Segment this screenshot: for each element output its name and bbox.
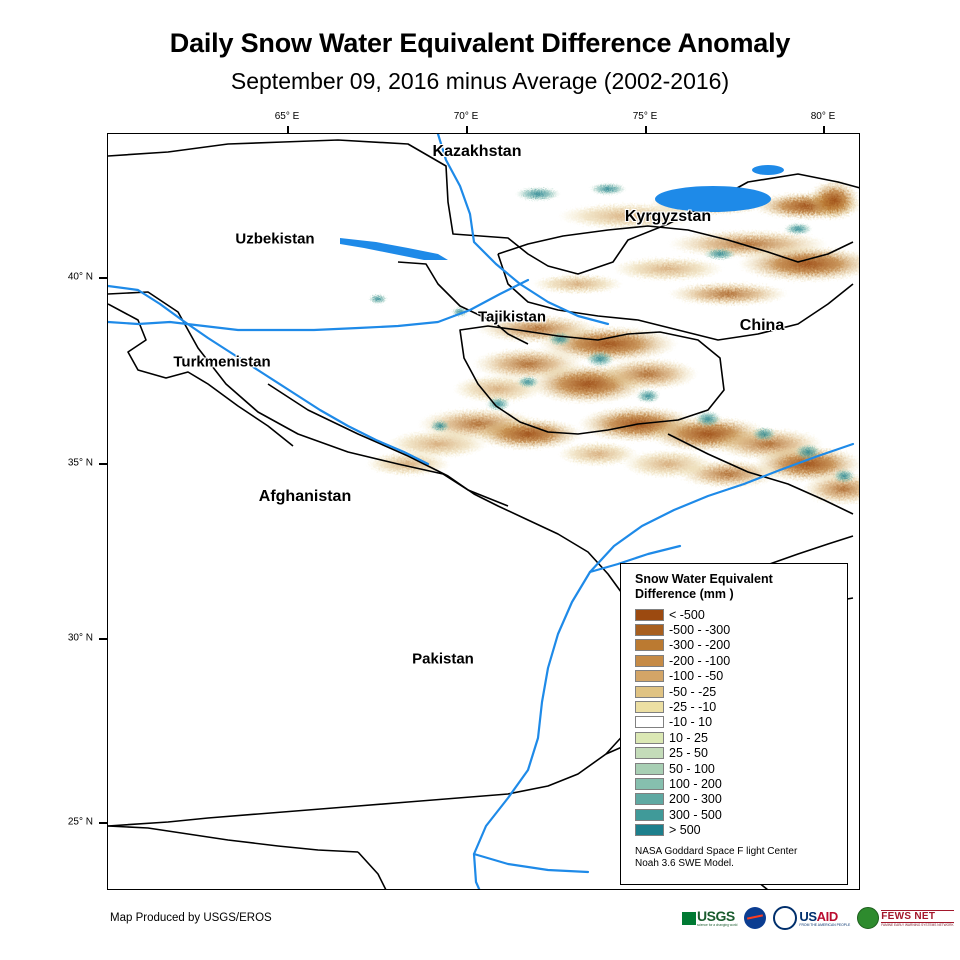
legend-range-label: 100 - 200 (669, 777, 722, 791)
legend-range-label: > 500 (669, 823, 701, 837)
legend-entries: < -500-500 - -300-300 - -200-200 - -100-… (635, 607, 837, 838)
legend-color-swatch (635, 793, 664, 805)
legend-entry: -25 - -10 (635, 699, 837, 714)
usgs-logo-text: USGS (697, 910, 737, 923)
legend-color-swatch (635, 701, 664, 713)
legend-title-line1: Snow Water Equivalent (635, 572, 837, 587)
legend-entry: -50 - -25 (635, 684, 837, 699)
legend-panel: Snow Water Equivalent Difference (mm ) <… (620, 563, 848, 885)
legend-range-label: -200 - -100 (669, 654, 730, 668)
legend-color-swatch (635, 763, 664, 775)
map-page: Daily Snow Water Equivalent Difference A… (0, 0, 960, 960)
usgs-logo[interactable]: USGS science for a changing world (682, 910, 737, 927)
legend-color-swatch (635, 655, 664, 667)
legend-entry: 200 - 300 (635, 792, 837, 807)
legend-range-label: -50 - -25 (669, 685, 716, 699)
legend-title: Snow Water Equivalent Difference (mm ) (635, 572, 837, 602)
legend-entry: -100 - -50 (635, 669, 837, 684)
country-label-uzbekistan: Uzbekistan (235, 231, 314, 248)
legend-color-swatch (635, 639, 664, 651)
legend-entry: 300 - 500 (635, 807, 837, 822)
legend-source: NASA Goddard Space F light Center Noah 3… (635, 846, 837, 871)
legend-range-label: -10 - 10 (669, 715, 712, 729)
fewsnet-globe-icon (857, 907, 879, 929)
legend-entry: -200 - -100 (635, 653, 837, 668)
legend-color-swatch (635, 732, 664, 744)
latitude-tick-mark (99, 822, 107, 824)
latitude-tick-mark (99, 463, 107, 465)
legend-source-line1: NASA Goddard Space F light Center (635, 846, 837, 859)
legend-range-label: 300 - 500 (669, 808, 722, 822)
usaid-seal-icon (773, 906, 797, 930)
usaid-logo-tagline: FROM THE AMERICAN PEOPLE (799, 923, 850, 927)
agency-logos: USGS science for a changing world USAID … (682, 906, 954, 930)
legend-range-label: -500 - -300 (669, 623, 730, 637)
longitude-tick-label: 75° E (633, 111, 658, 122)
legend-color-swatch (635, 686, 664, 698)
legend-entry: 25 - 50 (635, 746, 837, 761)
legend-range-label: -300 - -200 (669, 638, 730, 652)
fewsnet-logo-text: FEWS NET (881, 910, 953, 923)
legend-range-label: 50 - 100 (669, 762, 715, 776)
legend-entry: 10 - 25 (635, 730, 837, 745)
country-label-tajikistan: Tajikistan (478, 309, 546, 326)
legend-color-swatch (635, 609, 664, 621)
legend-color-swatch (635, 670, 664, 682)
legend-color-swatch (635, 747, 664, 759)
usgs-mark-icon (682, 912, 696, 925)
country-label-pakistan: Pakistan (412, 651, 474, 668)
legend-entry: 100 - 200 (635, 776, 837, 791)
map-credit: Map Produced by USGS/EROS (110, 912, 272, 924)
usaid-logo[interactable]: USAID FROM THE AMERICAN PEOPLE (773, 906, 850, 930)
legend-range-label: 25 - 50 (669, 746, 708, 760)
legend-title-line2: Difference (mm ) (635, 587, 837, 602)
usgs-logo-tagline: science for a changing world (697, 923, 737, 927)
longitude-tick-mark (823, 126, 825, 133)
country-label-kazakhstan: Kazakhstan (433, 143, 522, 161)
legend-range-label: 200 - 300 (669, 792, 722, 806)
longitude-tick-label: 80° E (811, 111, 836, 122)
country-label-china: China (740, 317, 784, 335)
legend-color-swatch (635, 824, 664, 836)
longitude-tick-label: 70° E (454, 111, 479, 122)
usaid-text-aid: AID (817, 909, 838, 924)
legend-color-swatch (635, 624, 664, 636)
legend-entry: -10 - 10 (635, 715, 837, 730)
longitude-tick-mark (287, 126, 289, 133)
latitude-tick-label: 35° N (49, 458, 93, 469)
longitude-tick-label: 65° E (275, 111, 300, 122)
legend-color-swatch (635, 778, 664, 790)
legend-range-label: -100 - -50 (669, 669, 723, 683)
latitude-tick-label: 30° N (49, 633, 93, 644)
longitude-tick-mark (466, 126, 468, 133)
nasa-logo[interactable] (744, 907, 766, 929)
country-label-turkmenistan: Turkmenistan (173, 354, 270, 371)
legend-source-line2: Noah 3.6 SWE Model. (635, 858, 837, 871)
page-title: Daily Snow Water Equivalent Difference A… (0, 28, 960, 59)
usaid-logo-text: USAID (799, 910, 850, 923)
legend-entry: -500 - -300 (635, 622, 837, 637)
latitude-tick-label: 25° N (49, 817, 93, 828)
legend-color-swatch (635, 809, 664, 821)
legend-entry: -300 - -200 (635, 638, 837, 653)
fewsnet-logo[interactable]: FEWS NET FAMINE EARLY WARNING SYSTEMS NE… (857, 907, 953, 929)
nasa-meatball-icon (744, 907, 766, 929)
latitude-tick-mark (99, 277, 107, 279)
legend-entry: > 500 (635, 822, 837, 837)
latitude-tick-label: 40° N (49, 272, 93, 283)
legend-entry: 50 - 100 (635, 761, 837, 776)
legend-entry: < -500 (635, 607, 837, 622)
fewsnet-logo-tagline: FAMINE EARLY WARNING SYSTEMS NETWORK (881, 923, 953, 927)
usaid-text-us: US (799, 909, 816, 924)
legend-range-label: 10 - 25 (669, 731, 708, 745)
legend-range-label: < -500 (669, 608, 705, 622)
page-subtitle: September 09, 2016 minus Average (2002-2… (0, 68, 960, 95)
legend-color-swatch (635, 716, 664, 728)
latitude-tick-mark (99, 638, 107, 640)
country-label-kyrgyzstan: Kyrgyzstan (625, 208, 711, 226)
longitude-tick-mark (645, 126, 647, 133)
country-label-afghanistan: Afghanistan (259, 488, 351, 506)
legend-range-label: -25 - -10 (669, 700, 716, 714)
